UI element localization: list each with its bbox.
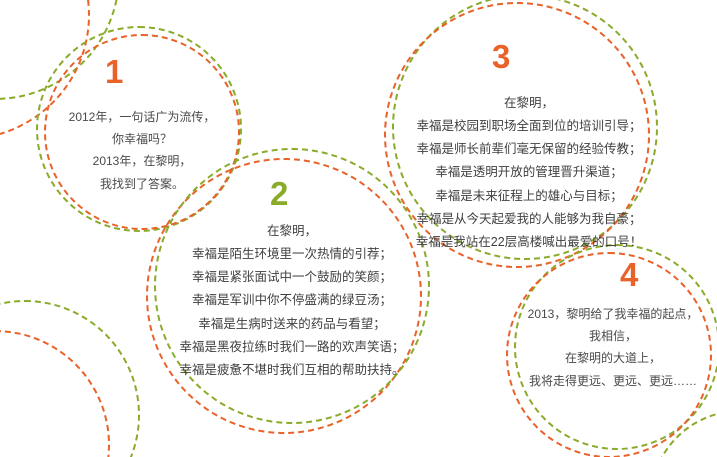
section-3-line-5: 幸福是未来征程上的雄心与目标； [379,185,679,208]
poster-canvas: 1 2012年，一句话广为流传， 你幸福吗？ 2013年，在黎明， 我找到了答案… [0,0,717,457]
section-1-line-3: 2013年，在黎明， [52,150,232,172]
section-4-line-3: 在黎明的大道上， [513,347,713,369]
section-3-line-1: 在黎明， [379,92,679,115]
section-3-line-6: 幸福是从今天起爱我的人能够为我自豪； [379,208,679,231]
section-1-line-2: 你幸福吗？ [52,128,232,150]
section-3-text: 在黎明， 幸福是校园到职场全面到位的培训引导； 幸福是师长前辈们毫无保留的经验传… [379,92,679,254]
section-3-number: 3 [492,40,510,73]
section-3-line-3: 幸福是师长前辈们毫无保留的经验传教； [379,138,679,161]
section-1-number: 1 [105,55,123,88]
section-2-line-3: 幸福是紧张面试中一个鼓励的笑颜； [146,266,438,289]
section-3-line-2: 幸福是校园到职场全面到位的培训引导； [379,115,679,138]
section-1-line-4: 我找到了答案。 [52,173,232,195]
section-2-line-4: 幸福是军训中你不停盛满的绿豆汤； [146,289,438,312]
section-4-line-1: 2013，黎明给了我幸福的起点， [513,303,713,325]
section-2-line-7: 幸福是疲惫不堪时我们互相的帮助扶持。 [146,359,438,382]
section-4-line-4: 我将走得更远、更远、更远…… [513,370,713,392]
section-4-number: 4 [620,258,638,291]
section-3-line-4: 幸福是透明开放的管理晋升渠道； [379,161,679,184]
section-2-line-5: 幸福是生病时送来的药品与看望； [146,313,438,336]
section-1-line-1: 2012年，一句话广为流传， [52,106,232,128]
section-2-number: 2 [270,177,288,210]
section-2-line-6: 幸福是黑夜拉练时我们一路的欢声笑语； [146,336,438,359]
section-3-line-7: 幸福是我站在22层高楼喊出最爱的口号！ [379,231,679,254]
section-4-line-2: 我相信， [513,325,713,347]
section-4-text: 2013，黎明给了我幸福的起点， 我相信， 在黎明的大道上， 我将走得更远、更远… [513,303,713,392]
section-1-text: 2012年，一句话广为流传， 你幸福吗？ 2013年，在黎明， 我找到了答案。 [52,106,232,195]
